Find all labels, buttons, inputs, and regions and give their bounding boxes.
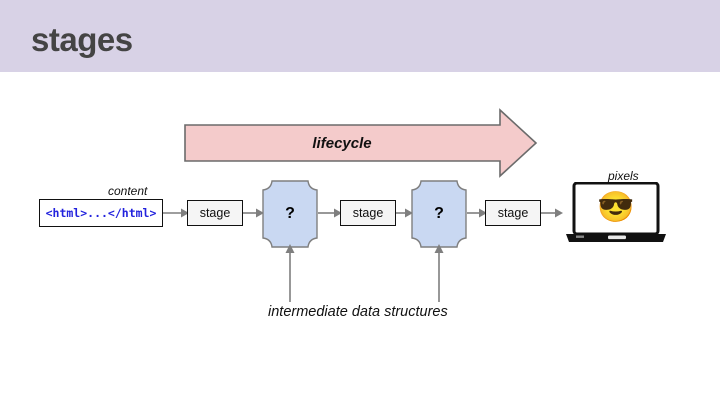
content-label: content	[108, 184, 147, 198]
pixels-label: pixels	[608, 169, 639, 183]
connector-arrow-caption-to-structure1	[283, 244, 297, 302]
connector-arrow-caption-to-structure2	[432, 244, 446, 302]
connector-arrow-structure2-to-stage3	[467, 206, 487, 220]
intermediate-structure-2-label: ?	[411, 180, 467, 248]
laptop-icon: 😎	[564, 182, 668, 244]
pipeline-diagram: content <html>...</html> stage ?	[0, 0, 720, 405]
content-code-text: <html>...</html>	[46, 206, 157, 220]
intermediate-structure-2[interactable]: ?	[411, 180, 467, 248]
intermediate-structure-1-label: ?	[262, 180, 318, 248]
slide: stages lifecycle content <html>...</html…	[0, 0, 720, 405]
stage-box-1[interactable]: stage	[187, 200, 243, 226]
stage-box-2[interactable]: stage	[340, 200, 396, 226]
connector-arrow-structure1-to-stage2	[318, 206, 342, 220]
connector-arrow-stage1-to-structure1	[243, 206, 264, 220]
intermediate-structure-1[interactable]: ?	[262, 180, 318, 248]
connector-arrow-content-to-stage1	[163, 206, 189, 220]
stage-box-3[interactable]: stage	[485, 200, 541, 226]
content-code-box: <html>...</html>	[39, 199, 163, 227]
connector-arrow-stage3-to-output	[541, 206, 563, 220]
intermediate-structures-caption: intermediate data structures	[268, 304, 448, 320]
